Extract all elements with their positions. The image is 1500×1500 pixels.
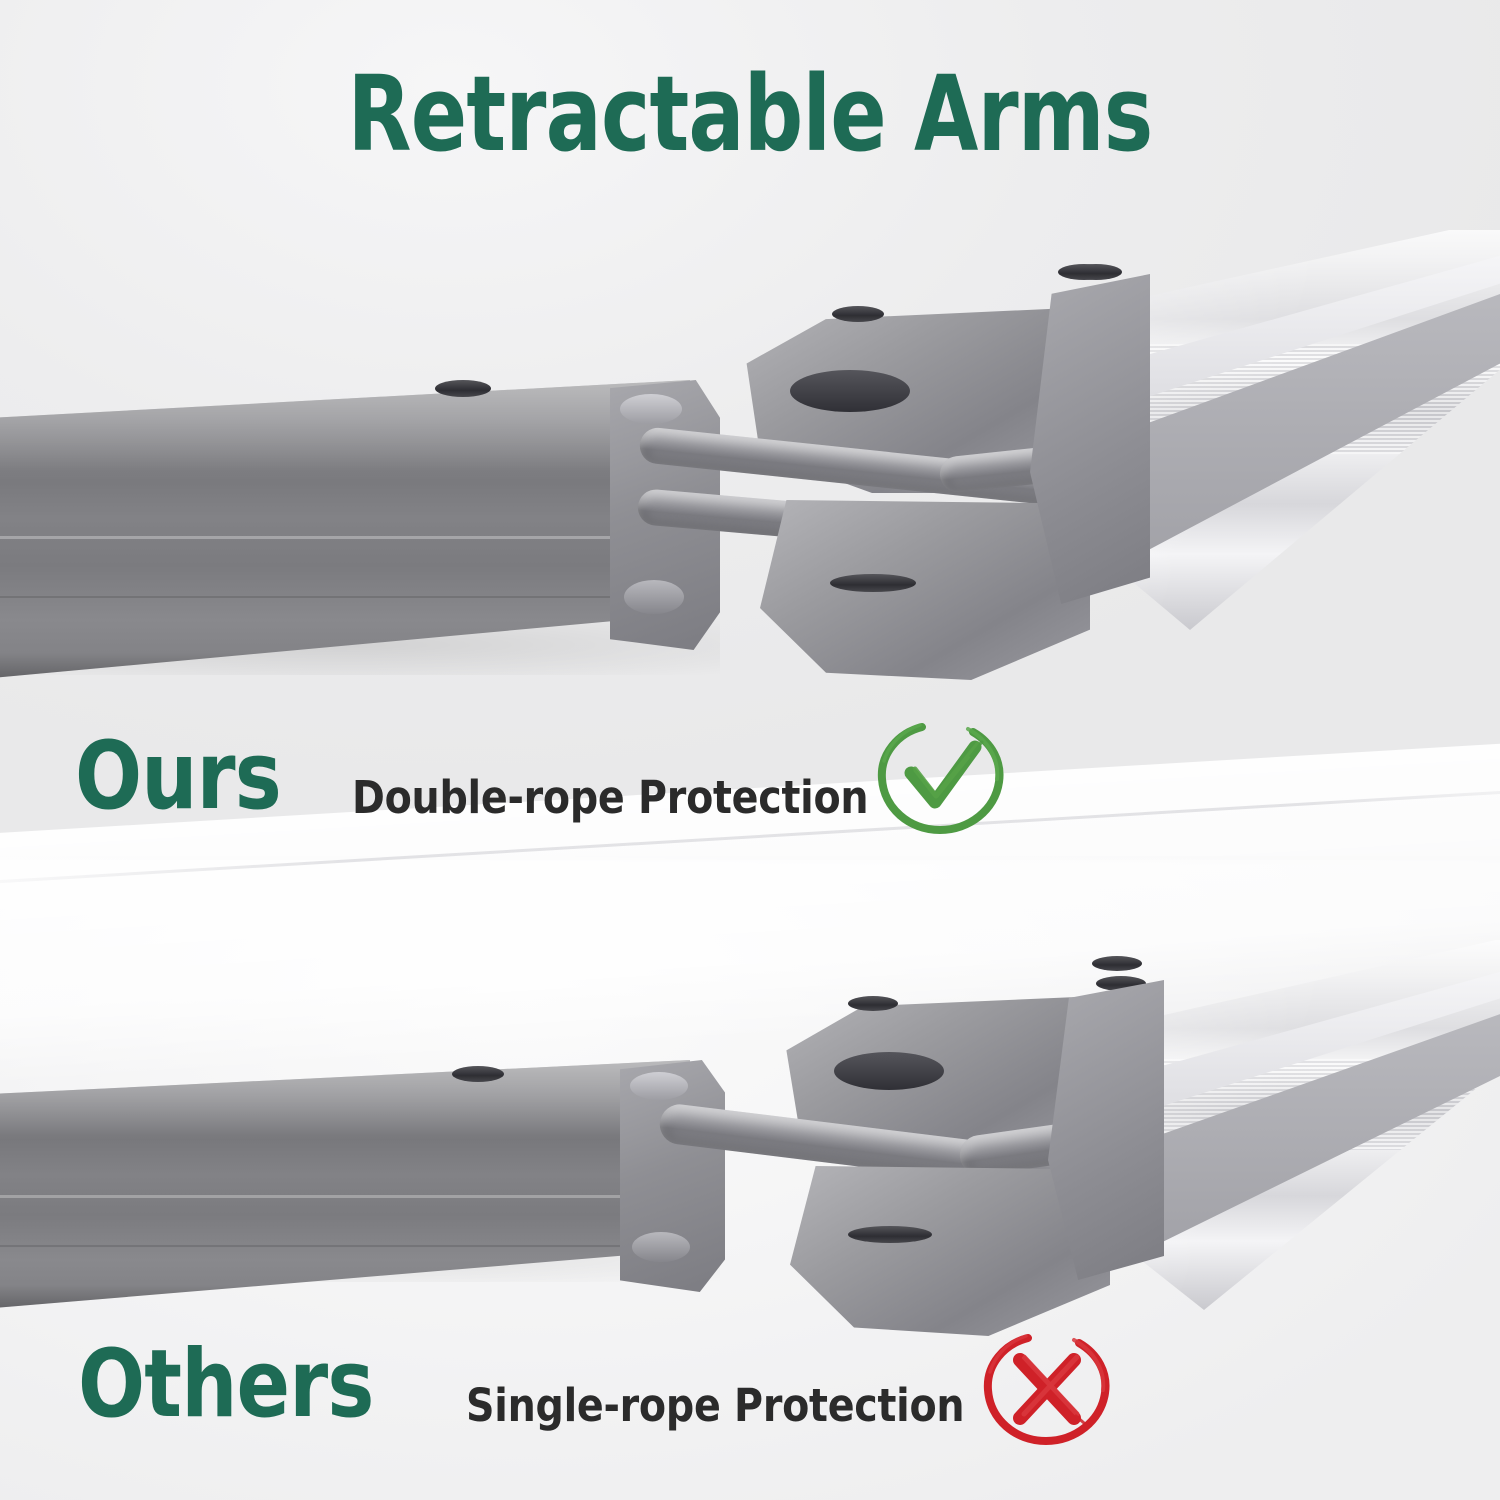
others-feature-label: Single-rope Protection bbox=[466, 1383, 964, 1428]
awning-arm-hinge-double-rope-photo bbox=[0, 230, 1500, 700]
hinge-upper-bolt-icon bbox=[832, 306, 884, 322]
page-title: Retractable Arms bbox=[150, 62, 1350, 166]
hinge-lower-bolt-icon bbox=[848, 1226, 932, 1243]
check-circle-brush-icon bbox=[872, 716, 1008, 842]
cross-circle-brush-icon bbox=[978, 1326, 1114, 1454]
hinge-lower-bolt-icon bbox=[830, 574, 916, 592]
arm-rivet-icon bbox=[435, 380, 491, 397]
hinge-lower-plate bbox=[760, 500, 1090, 680]
others-label-row: Others Single-rope Protection bbox=[78, 1336, 1032, 1432]
right-arm-rivet-icon bbox=[1070, 264, 1122, 280]
awning-arm-hinge-single-rope-photo bbox=[0, 940, 1500, 1340]
left-arm-endcap bbox=[620, 1060, 725, 1292]
others-brand-label: Others bbox=[78, 1338, 374, 1432]
hinge-pivot-pin bbox=[790, 370, 910, 412]
ours-brand-label: Ours bbox=[75, 730, 281, 824]
ours-label-row: Ours Double-rope Protection bbox=[75, 728, 939, 824]
ours-feature-label: Double-rope Protection bbox=[352, 775, 868, 820]
hinge-pivot-pin bbox=[834, 1052, 944, 1090]
hinge-upper-bolt-icon bbox=[848, 996, 898, 1011]
product-comparison-infographic: Retractable Arms bbox=[0, 0, 1500, 1500]
panel-divider bbox=[0, 856, 1500, 866]
hinge-upper-bolt2-icon bbox=[1092, 956, 1142, 971]
arm-rivet-icon bbox=[452, 1066, 504, 1082]
